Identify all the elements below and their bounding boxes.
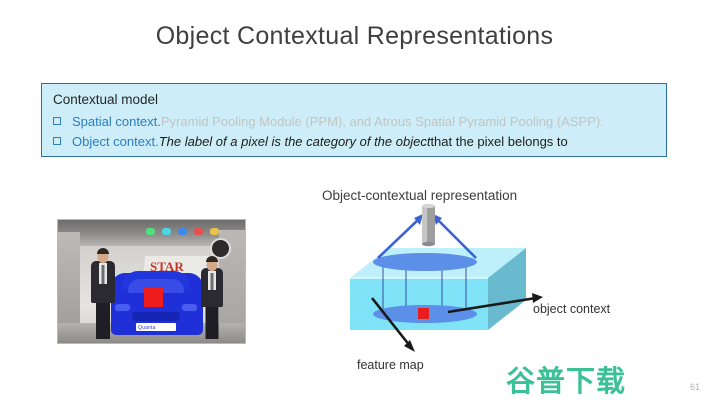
empty-square-bullet-icon <box>53 137 61 145</box>
cylinder-bottom-cap <box>422 242 435 246</box>
bullet-lead-spatial: Spatial context. <box>72 112 161 132</box>
photo-pixel-marker <box>144 288 163 307</box>
bullet-italic-object: The label of a pixel is the category of … <box>159 132 431 152</box>
pixel-marker <box>418 308 429 319</box>
bullet-item-spatial-context: Spatial context. Pyramid Pooling Module … <box>53 112 666 132</box>
empty-square-bullet-icon <box>53 117 61 125</box>
photo-person-hair <box>97 248 109 254</box>
stage-light-cyan <box>162 228 171 235</box>
stage-light-blue <box>178 228 187 235</box>
photo-person-tie <box>211 273 214 290</box>
photo-person-hair <box>206 256 218 262</box>
cylinder-highlight <box>422 206 427 244</box>
object-representation-cylinder <box>422 204 435 246</box>
label-object-context: object context <box>533 302 610 316</box>
photo-car-plate-text: Quanta <box>138 325 156 331</box>
bullet-rest-object: that the pixel belongs to <box>430 132 567 152</box>
watermark: 谷普下载 <box>506 358 626 400</box>
photo-person-tie <box>102 265 105 284</box>
photo-person-left <box>88 235 118 339</box>
photo-car-headlight-right <box>182 304 197 311</box>
cylinder-top-cap <box>422 204 435 208</box>
object-contextual-representation-diagram <box>330 200 560 375</box>
auto-show-photo: STAR Quanta <box>57 219 246 344</box>
page-title: Object Contextual Representations <box>0 22 709 51</box>
bullet-item-object-context: Object context. The label of a pixel is … <box>53 132 666 152</box>
label-feature-map: feature map <box>357 358 424 372</box>
photo-person-legs <box>96 299 110 339</box>
page-number: 61 <box>690 382 700 392</box>
stage-light-green <box>146 228 155 235</box>
photo-car-grille <box>132 312 180 321</box>
stage-light-red <box>194 228 203 235</box>
bullet-lead-object: Object context. <box>72 132 159 152</box>
photo-person-right <box>198 245 226 339</box>
contextual-model-heading: Contextual model <box>53 91 666 109</box>
bullet-rest-spatial: Pyramid Pooling Module (PPM), and Atrous… <box>161 112 604 132</box>
stage-light-amber <box>210 228 219 235</box>
contextual-model-box: Contextual model Spatial context. Pyrami… <box>41 83 667 157</box>
photo-person-legs <box>206 303 219 339</box>
upper-object-region <box>373 253 477 271</box>
